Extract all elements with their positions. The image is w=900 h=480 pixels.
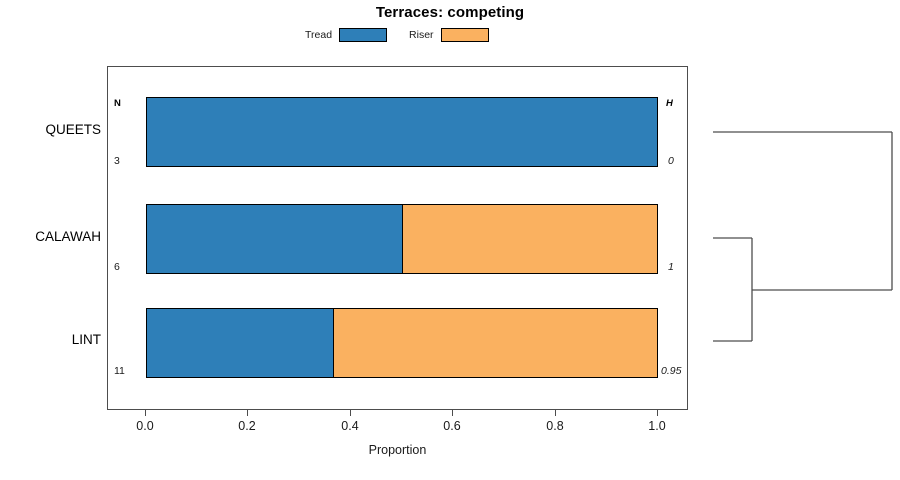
x-tick-label-4: 0.8: [530, 419, 580, 433]
n-value-queets: 3: [114, 155, 120, 167]
dendrogram: [700, 66, 900, 410]
chart-root: Terraces: competing Tread Riser QUEETS C…: [0, 0, 900, 480]
legend-entry-riser: Riser: [409, 28, 489, 42]
x-axis: 0.0 0.2 0.4 0.6 0.8 1.0: [107, 410, 688, 470]
h-value-lint: 0.95: [661, 365, 681, 377]
plot-area: [107, 66, 688, 410]
legend-entry-tread: Tread: [305, 28, 387, 42]
stacked-bar-queets[interactable]: [146, 97, 658, 167]
x-tick-label-3: 0.6: [427, 419, 477, 433]
legend-label-riser: Riser: [409, 29, 434, 41]
chart-legend: Tread Riser: [305, 27, 489, 43]
column-header-n: N: [114, 98, 121, 109]
x-tick-label-5: 1.0: [632, 419, 682, 433]
bar-segment-riser-lint[interactable]: [333, 309, 657, 377]
n-value-lint: 11: [114, 365, 125, 377]
column-header-h: H: [666, 98, 673, 109]
x-tick-mark-2: [350, 410, 351, 416]
legend-label-tread: Tread: [305, 29, 332, 41]
h-value-calawah: 1: [668, 261, 674, 273]
bar-segment-tread-calawah[interactable]: [147, 205, 402, 273]
x-tick-mark-5: [657, 410, 658, 416]
x-tick-mark-3: [452, 410, 453, 416]
category-label-lint: LINT: [1, 332, 101, 347]
bar-segment-tread-queets[interactable]: [147, 98, 657, 166]
category-label-column: QUEETS CALAWAH LINT: [0, 0, 101, 480]
x-tick-mark-4: [555, 410, 556, 416]
x-tick-label-2: 0.4: [325, 419, 375, 433]
stacked-bar-lint[interactable]: [146, 308, 658, 378]
bar-segment-tread-lint[interactable]: [147, 309, 333, 377]
legend-swatch-tread: [339, 28, 387, 42]
stacked-bar-calawah[interactable]: [146, 204, 658, 274]
x-tick-label-1: 0.2: [222, 419, 272, 433]
dendrogram-svg: [700, 66, 900, 410]
x-tick-label-0: 0.0: [120, 419, 170, 433]
x-tick-mark-1: [247, 410, 248, 416]
x-axis-title: Proportion: [107, 443, 688, 457]
legend-swatch-riser: [441, 28, 489, 42]
category-label-calawah: CALAWAH: [1, 229, 101, 244]
h-value-queets: 0: [668, 155, 674, 167]
category-label-queets: QUEETS: [1, 122, 101, 137]
n-value-calawah: 6: [114, 261, 120, 273]
chart-title: Terraces: competing: [0, 4, 900, 21]
bar-segment-riser-calawah[interactable]: [402, 205, 657, 273]
x-tick-mark-0: [145, 410, 146, 416]
